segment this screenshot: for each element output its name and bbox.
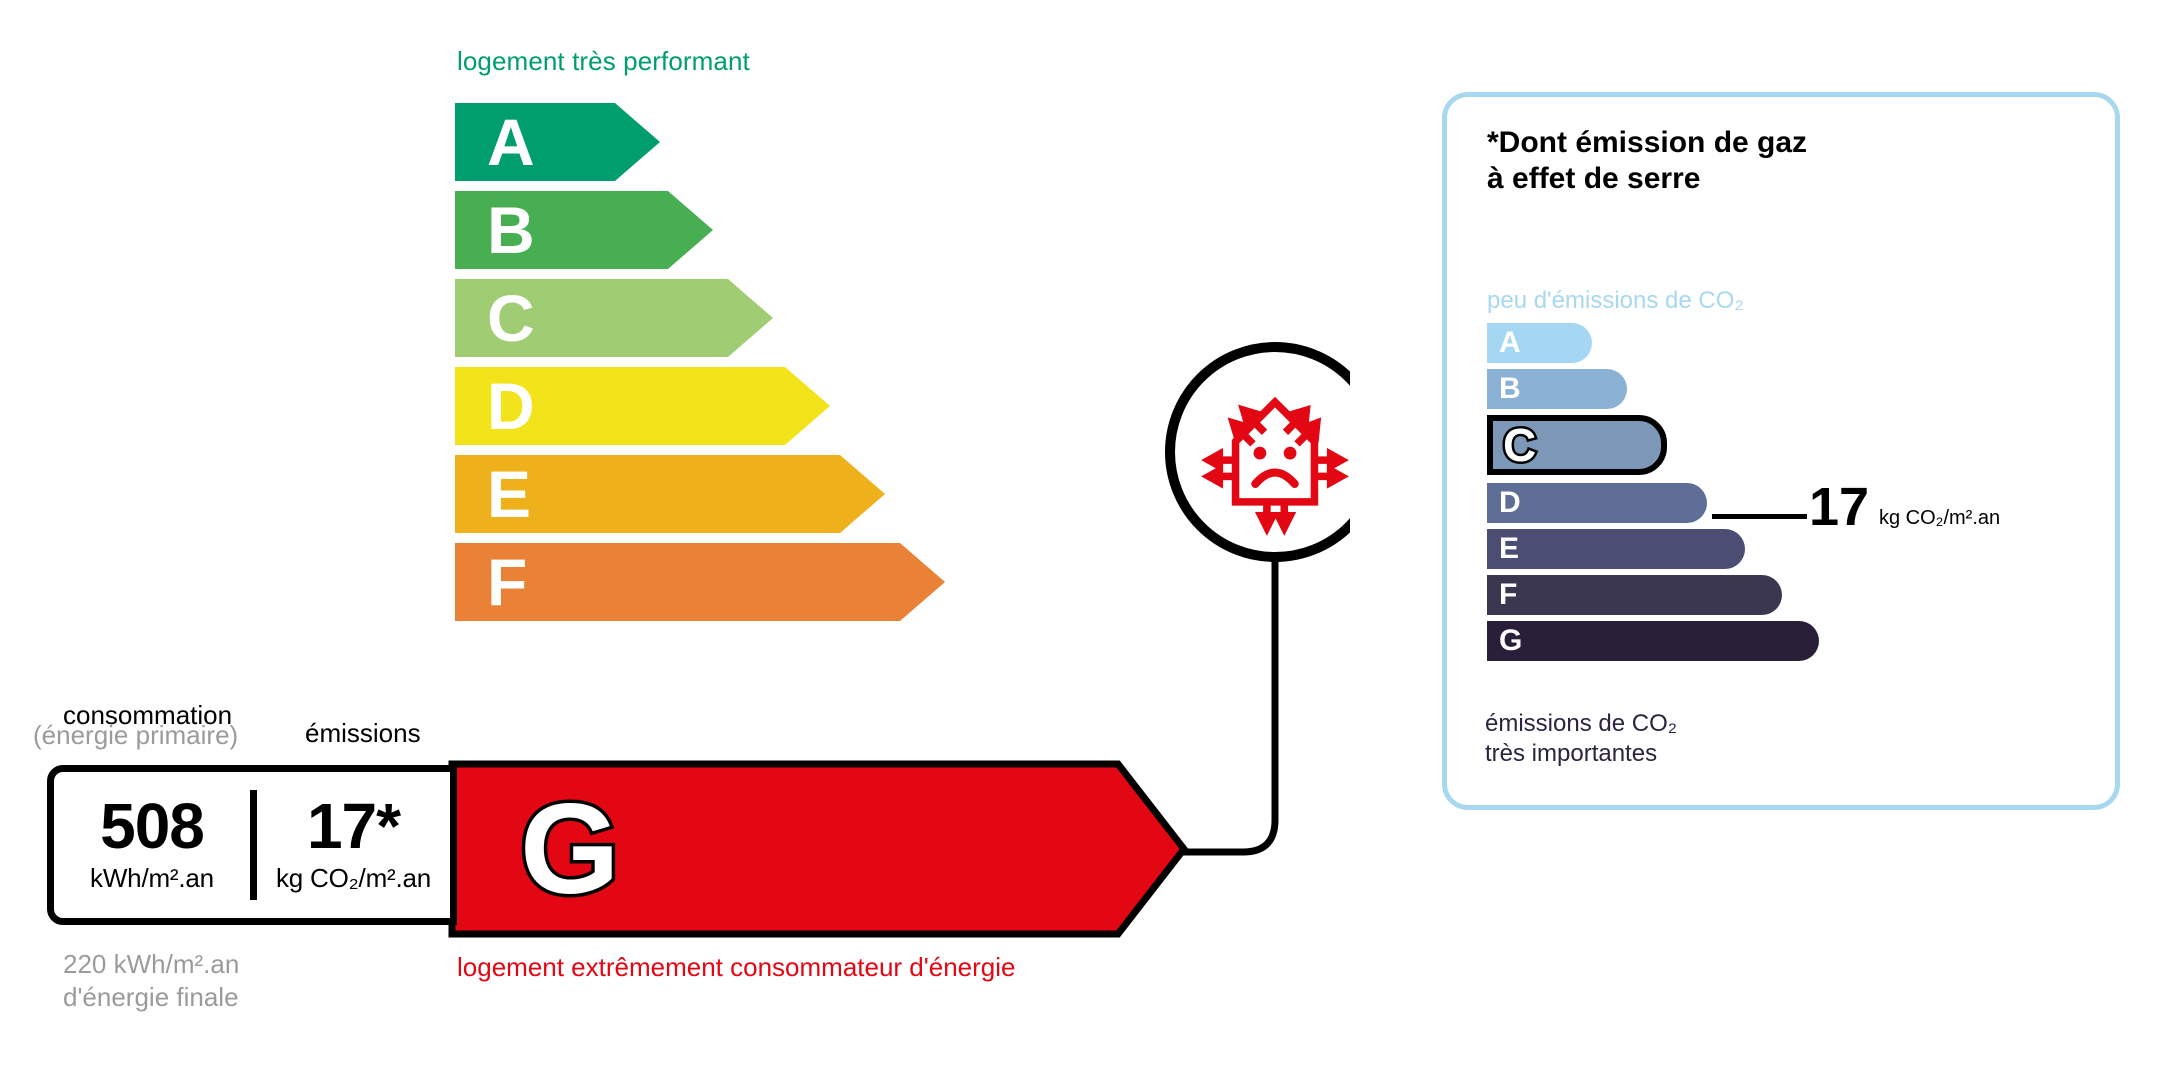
co2-band-f-letter: F [1499,580,1517,610]
energy-performance-scale: logement très performant A B C D E [0,0,1250,1079]
energy-band-c-letter: C [487,285,535,351]
co2-band-b[interactable]: B [1487,369,1627,409]
co2-bottom-caption-line1: émissions de CO₂ [1485,709,1677,739]
energy-band-e[interactable]: E [455,455,885,533]
energy-band-d[interactable]: D [455,367,830,445]
final-energy-footnote: 220 kWh/m².an d'énergie finale [63,948,239,1013]
final-energy-line2: d'énergie finale [63,981,239,1014]
co2-callout-value: 17 [1809,480,1869,534]
co2-band-d-letter: D [1499,488,1521,518]
energy-band-g-letter: G [520,786,620,914]
co2-bottom-caption-line2: très importantes [1485,739,1677,769]
co2-band-c[interactable]: C [1487,415,1667,475]
co2-scale-bottom-caption: émissions de CO₂ très importantes [1485,709,1677,769]
energy-band-f-shape [455,543,945,621]
co2-scale-top-caption: peu d'émissions de CO₂ [1487,287,1744,315]
value-box: 508 kWh/m².an 17* kg CO₂/m².an [47,765,457,925]
primary-energy-cell: 508 kWh/m².an [54,772,250,918]
co2-band-a-letter: A [1499,328,1521,358]
co2-emissions-cell: 17* kg CO₂/m².an [257,772,450,918]
energy-band-a-shape [455,103,660,181]
energy-band-b[interactable]: B [455,191,713,269]
co2-emissions-unit: kg CO₂/m².an [276,863,431,894]
energy-band-c[interactable]: C [455,279,773,357]
label-consommation-sub: (énergie primaire) [33,720,238,751]
co2-callout-line [1712,514,1807,519]
co2-band-g-letter: G [1499,626,1522,656]
co2-emissions-value: 17* [307,796,400,857]
co2-band-a[interactable]: A [1487,323,1592,363]
energy-scale-bottom-caption: logement extrêmement consommateur d'éner… [457,952,1015,983]
energy-band-e-letter: E [487,461,531,527]
co2-panel-title: *Dont émission de gaz à effet de serre [1487,125,1807,197]
energy-band-a-letter: A [487,109,535,175]
co2-panel-title-line1: *Dont émission de gaz [1487,125,1807,161]
energy-band-g-row: G 508 kWh/m².an 17* kg CO₂/m².an [0,760,1250,940]
co2-band-d[interactable]: D [1487,483,1707,523]
energy-band-a[interactable]: A [455,103,660,181]
energy-band-b-letter: B [487,197,535,263]
energy-band-f-letter: F [487,549,527,615]
co2-band-e[interactable]: E [1487,529,1745,569]
primary-energy-value: 508 [100,796,204,857]
co2-band-b-letter: B [1499,374,1521,404]
co2-band-c-letter: C [1503,422,1536,468]
co2-callout-unit: kg CO₂/m².an [1879,507,2000,530]
co2-band-e-letter: E [1499,534,1519,564]
energy-scale-top-caption: logement très performant [457,46,750,77]
co2-panel-title-line2: à effet de serre [1487,161,1807,197]
final-energy-line1: 220 kWh/m².an [63,948,239,981]
co2-emissions-panel: *Dont émission de gaz à effet de serre p… [1442,92,2120,810]
value-box-divider [250,790,257,900]
energy-band-f[interactable]: F [455,543,945,621]
co2-band-f[interactable]: F [1487,575,1782,615]
label-emissions: émissions [305,718,421,749]
primary-energy-unit: kWh/m².an [90,863,214,894]
energy-band-d-letter: D [487,373,535,439]
co2-band-g[interactable]: G [1487,621,1819,661]
